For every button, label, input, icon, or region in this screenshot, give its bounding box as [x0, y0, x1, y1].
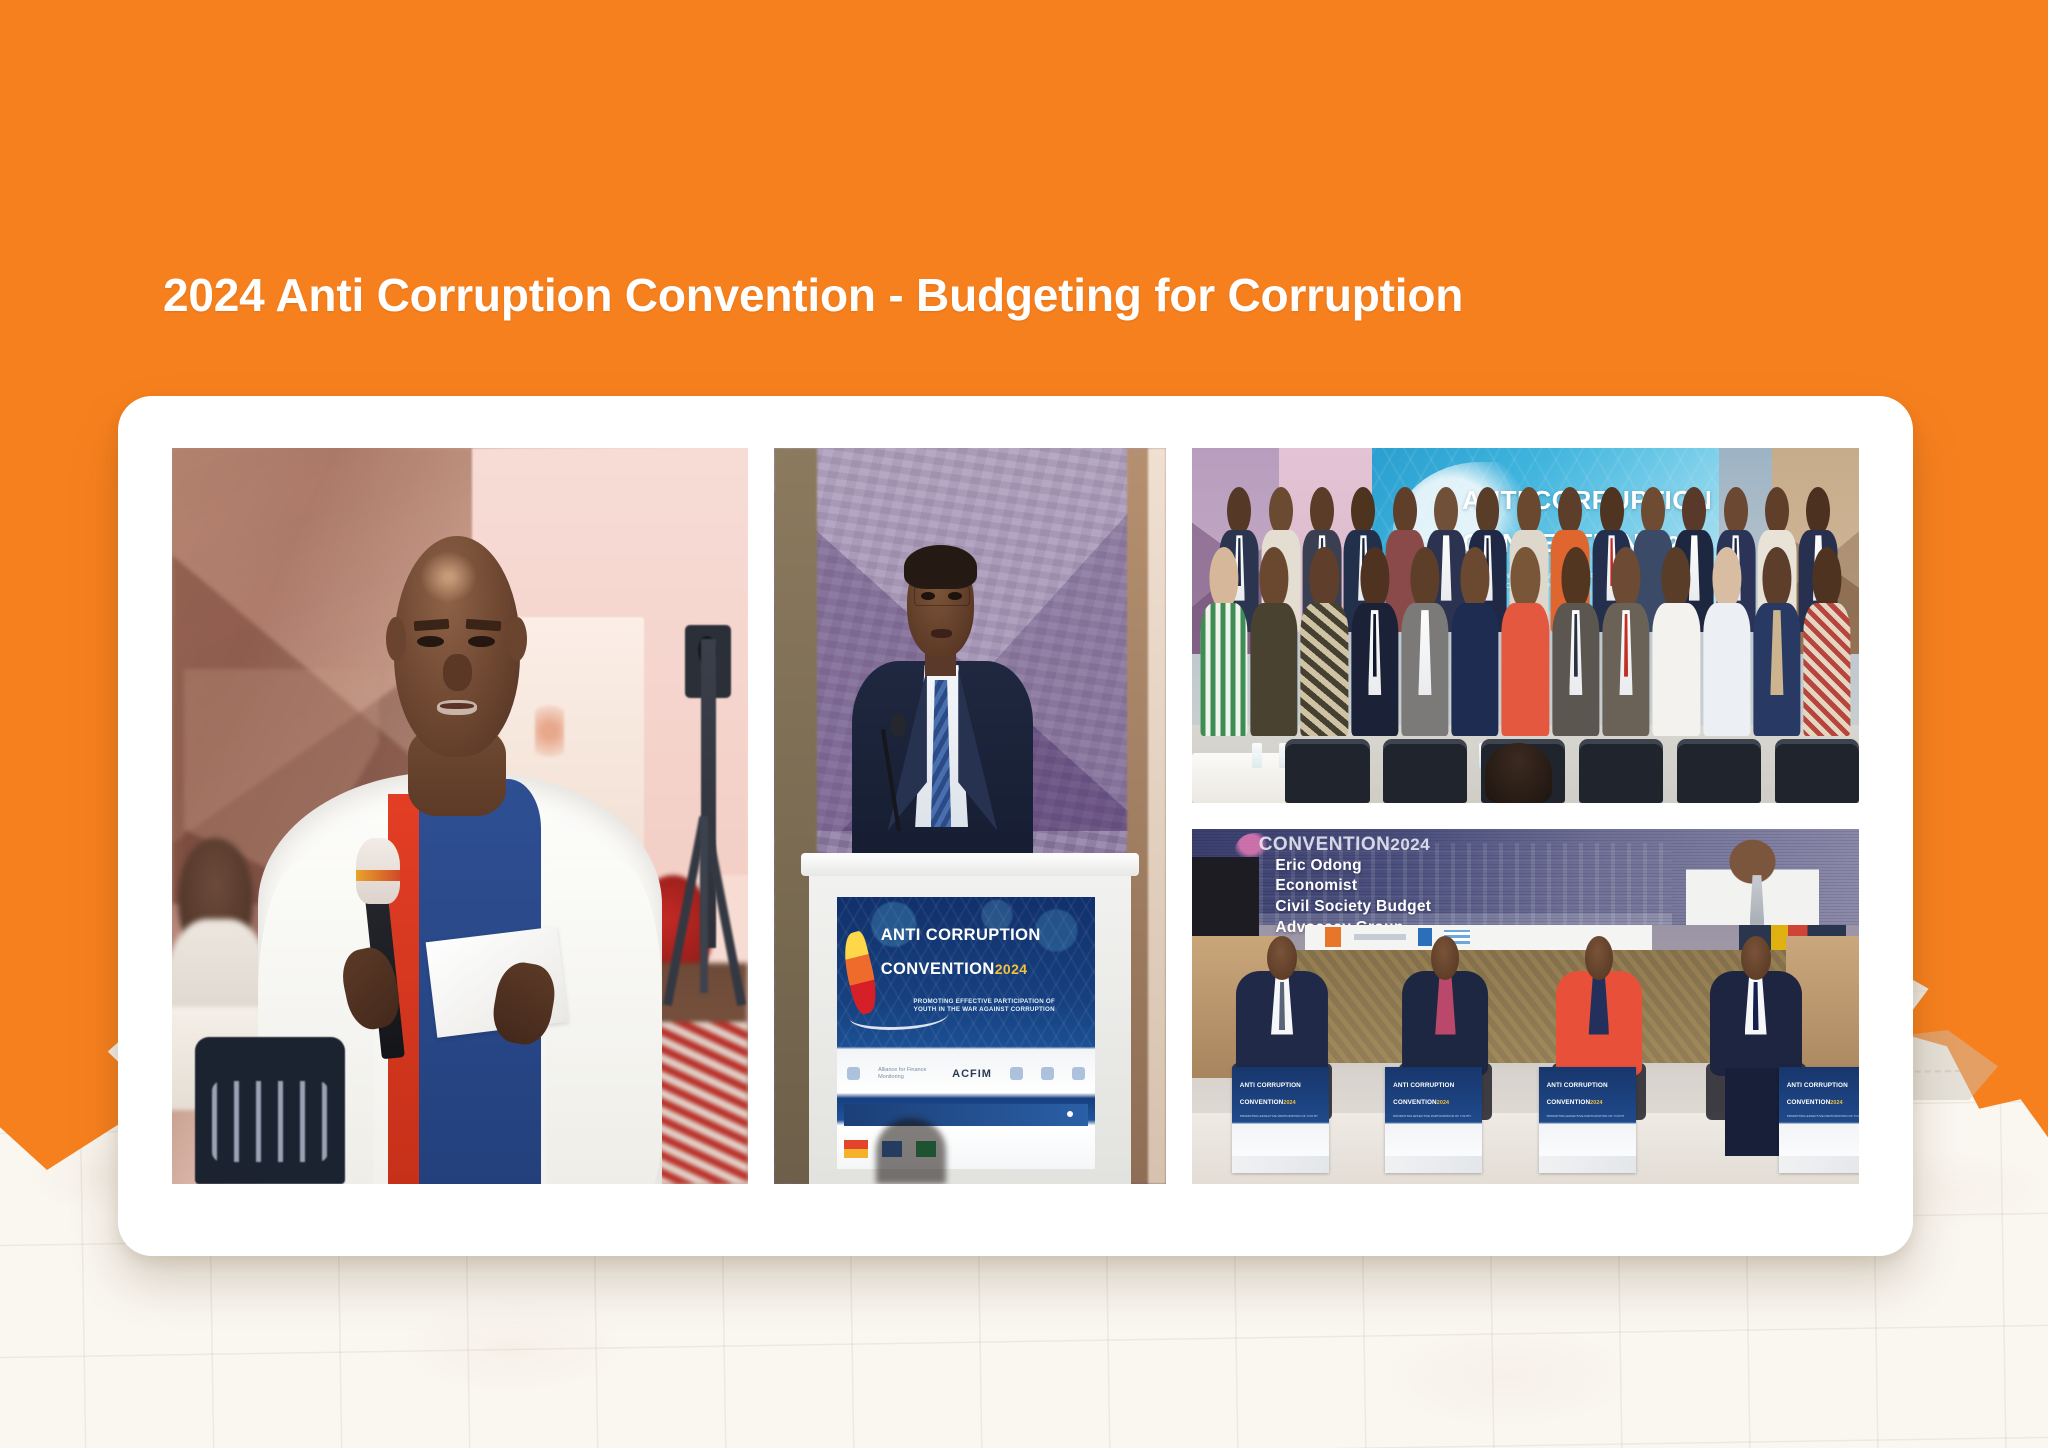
placard-line2: CONVENTION2024 [1547, 1099, 1603, 1106]
delegate [1350, 547, 1400, 732]
delegate [1400, 547, 1450, 732]
podium-top-edge [801, 853, 1138, 877]
sponsor-logo-icon [1010, 1067, 1023, 1080]
delegate [1802, 547, 1852, 732]
banner-tagline: PROMOTING EFFECTIVE PARTICIPATION OF YOU… [886, 998, 1083, 1015]
placard-footer [1385, 1156, 1482, 1173]
sponsor-logo-icon [1041, 1067, 1054, 1080]
photo-card: ANTI CORRUPTION CONVENTION2024 PROMOTING… [118, 396, 1913, 1256]
delegate [1500, 547, 1550, 732]
placard-line2: CONVENTION2024 [1787, 1099, 1843, 1106]
podium-microphone-head [890, 713, 906, 737]
delegate [1601, 547, 1651, 732]
podium-speaker-mouth [931, 629, 953, 638]
banner-tagline-line2: YOUTH IN THE WAR AGAINST CORRUPTION [886, 1006, 1083, 1014]
placard-line2: CONVENTION2024 [1393, 1099, 1449, 1106]
page-stage: 2024 Anti Corruption Convention - Budget… [0, 0, 2048, 1448]
banner-title-line1: ANTI CORRUPTION [881, 927, 1088, 944]
chair [1285, 739, 1369, 803]
placard-year: 2024 [1283, 1100, 1295, 1106]
placard-line2: CONVENTION2024 [1240, 1099, 1296, 1106]
foreground-silhouette [876, 1118, 947, 1184]
sponsor-acfim-label: ACFIM [952, 1068, 992, 1080]
banner-tagline-line1: PROMOTING EFFECTIVE PARTICIPATION OF [886, 998, 1083, 1006]
speaker-head-highlight [420, 551, 478, 603]
delegate [1752, 547, 1802, 732]
placard-line1: ANTI CORRUPTION [1393, 1082, 1454, 1089]
wall-right-edge [1148, 448, 1166, 1184]
foreground-audience-head [1485, 743, 1552, 803]
panel-screen-header-year: 2024 [1390, 835, 1430, 854]
water-bottle [1252, 743, 1262, 768]
chair [1579, 739, 1663, 803]
placard-line2-text: CONVENTION [1547, 1099, 1591, 1106]
placard: ANTI CORRUPTION CONVENTION2024 PROMOTING… [1232, 1067, 1329, 1174]
placard-sub: PROMOTING EFFECTIVE PARTICIPATION OF YOU… [1787, 1114, 1859, 1118]
panel-screen-header: CONVENTION2024 [1259, 834, 1431, 856]
photo-podium-address[interactable]: ANTI CORRUPTION CONVENTION2024 PROMOTING… [774, 448, 1166, 1184]
placard: ANTI CORRUPTION CONVENTION2024 PROMOTING… [1779, 1067, 1859, 1174]
placard-footer [1539, 1156, 1636, 1173]
photo-grid: ANTI CORRUPTION CONVENTION2024 PROMOTING… [172, 448, 1859, 1184]
delegates-front-row [1199, 547, 1853, 732]
podium-banner: ANTI CORRUPTION CONVENTION2024 PROMOTING… [837, 897, 1096, 1169]
chair [1775, 739, 1859, 803]
placard-line1: ANTI CORRUPTION [1787, 1082, 1848, 1089]
speaker-role: Economist [1275, 876, 1431, 897]
chair-row [1285, 739, 1859, 803]
banner-line2-text: CONVENTION [881, 960, 995, 978]
placard-year: 2024 [1590, 1100, 1602, 1106]
panel-screen-header-text: CONVENTION [1259, 834, 1391, 855]
foreground-chair-slats [212, 1081, 327, 1162]
placard-year: 2024 [1830, 1100, 1842, 1106]
delegate [1701, 547, 1751, 732]
photo-speaker-microphone[interactable] [172, 448, 748, 1184]
speaker-ear-right [507, 617, 527, 661]
speaker-mouth-inner [440, 703, 475, 710]
placard: ANTI CORRUPTION CONVENTION2024 PROMOTING… [1539, 1067, 1636, 1174]
banner-title-line2: CONVENTION2024 [881, 961, 1088, 978]
photo-group-delegates[interactable]: ANTI CORRUPTION CONVENTION2024 PROMOTING… [1192, 448, 1859, 803]
delegate [1450, 547, 1500, 732]
photo-panel-discussion[interactable]: CONVENTION2024 Eric Odong Economist Civi… [1192, 829, 1859, 1184]
placard-footer [1779, 1156, 1859, 1173]
background-board-logo [535, 698, 564, 764]
speaker-nose [443, 654, 472, 691]
speaker-ear-left [386, 617, 406, 661]
delegate [1199, 547, 1249, 732]
chair [1383, 739, 1467, 803]
page-title: 2024 Anti Corruption Convention - Budget… [163, 268, 1463, 322]
placard-sub: PROMOTING EFFECTIVE PARTICIPATION OF YOU… [1240, 1114, 1318, 1118]
sponsor-logo-icon [847, 1067, 860, 1080]
speaker-org-line1: Civil Society Budget [1275, 897, 1431, 918]
delegate [1299, 547, 1349, 732]
placard-year: 2024 [1437, 1100, 1449, 1106]
placard-line1: ANTI CORRUPTION [1547, 1082, 1608, 1089]
banner-strip-dot-icon [1067, 1111, 1073, 1117]
placard-footer [1232, 1156, 1329, 1173]
delegate [1551, 547, 1601, 732]
placard-line2-text: CONVENTION [1787, 1099, 1831, 1106]
sponsor-note: Alliance for Finance Monitoring [878, 1067, 934, 1080]
panelist-head [1741, 936, 1771, 980]
stage-dark-panel [1192, 857, 1259, 942]
panelist-legs [1725, 1068, 1787, 1156]
placard-line2-text: CONVENTION [1393, 1099, 1437, 1106]
delegate [1249, 547, 1299, 732]
microphone-color-band [356, 870, 399, 881]
podium-speaker-hair [904, 545, 977, 589]
footer-logo-icon [844, 1140, 868, 1158]
chair [1677, 739, 1761, 803]
panelist-head [1267, 936, 1297, 980]
placard-sub: PROMOTING EFFECTIVE PARTICIPATION OF YOU… [1393, 1114, 1471, 1118]
placard-line1: ANTI CORRUPTION [1240, 1082, 1301, 1089]
delegate [1651, 547, 1701, 732]
placard-line2-text: CONVENTION [1240, 1099, 1284, 1106]
panelist-head [1585, 936, 1613, 980]
speaker-arm-right [546, 860, 661, 1184]
right-photo-column: ANTI CORRUPTION CONVENTION2024 PROMOTING… [1192, 448, 1859, 1184]
speaker-name: Eric Odong [1275, 856, 1431, 877]
sponsor-logo-icon [1072, 1067, 1085, 1080]
placard: ANTI CORRUPTION CONVENTION2024 PROMOTING… [1385, 1067, 1482, 1174]
banner-sponsor-row: Alliance for Finance Monitoring ACFIM [847, 1058, 1085, 1091]
panelist-head [1431, 936, 1459, 980]
placard-sub: PROMOTING EFFECTIVE PARTICIPATION OF YOU… [1547, 1114, 1625, 1118]
banner-blue-strip [844, 1104, 1087, 1126]
banner-year: 2024 [995, 961, 1028, 977]
tripod-leg [700, 816, 708, 993]
